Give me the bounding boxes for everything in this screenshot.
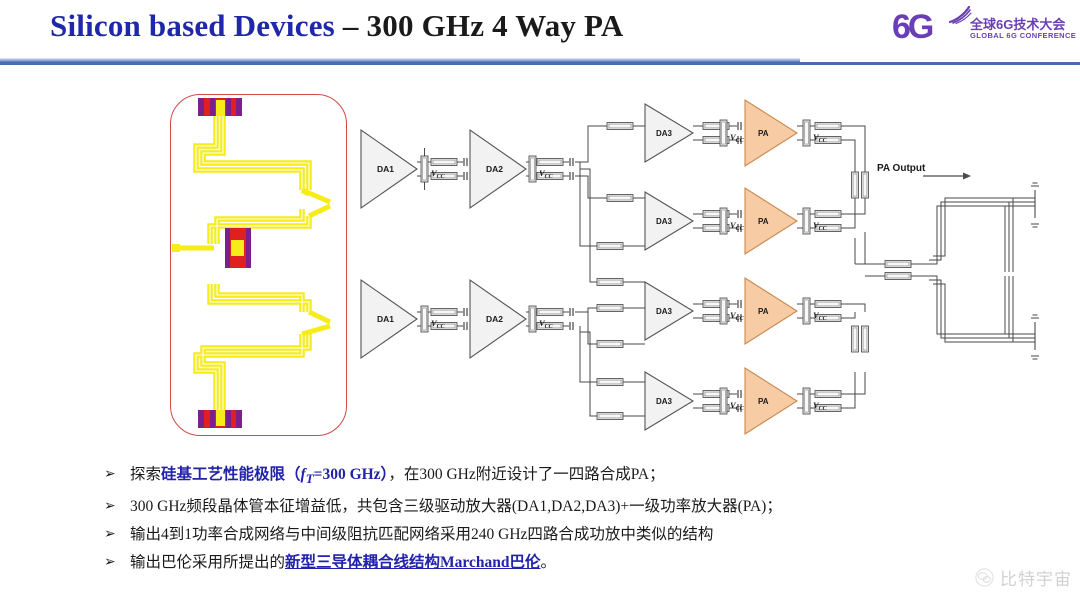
conference-logo: 6G 全球6G技术大会 GLOBAL 6G CONFERENCE [892,6,1062,54]
svg-text:VCC: VCC [730,400,745,412]
page-title-secondary: 300 GHz 4 Way PA [367,8,624,43]
watermark: 比特宇宙 [975,565,1072,590]
bullet-text-part: 输出巴伦采用所提出的 [130,554,285,571]
list-item: ➢探索硅基工艺性能极限（fT=300 GHz），在300 GHz附近设计了一四路… [104,462,1004,492]
page-title-dash: – [335,8,367,43]
bullet-text-part: ，在300 GHz附近设计了一四路合成PA； [388,466,664,483]
bullet-text-part: （ [285,466,301,483]
bullet-arrow-icon: ➢ [104,494,116,520]
list-item: ➢输出4到1功率合成网络与中间级阻抗匹配网络采用240 GHz四路合成功放中类似… [104,522,1004,548]
bullet-text-part: 。 [541,554,557,571]
bullet-text-highlight: 新型三导体耦合线结构Marchand巴伦 [285,554,540,571]
svg-text:VCC: VCC [730,220,745,232]
svg-text:DA3: DA3 [656,307,673,316]
svg-text:DA2: DA2 [486,314,503,324]
svg-text:PA: PA [758,397,769,406]
logo-english-text: GLOBAL 6G CONFERENCE [970,31,1076,40]
watermark-text: 比特宇宙 [1000,565,1072,590]
svg-text:DA3: DA3 [656,129,673,138]
svg-text:PA: PA [758,129,769,138]
pa-output-label: PA Output [877,163,925,174]
input-balun-layout [170,94,347,436]
balun-traces [170,94,345,434]
bullet-list: ➢探索硅基工艺性能极限（fT=300 GHz），在300 GHz附近设计了一四路… [104,462,1004,578]
bullet-text-part: =300 GHz） [314,466,389,483]
slide-header: Silicon based Devices – 300 GHz 4 Way PA… [0,0,1080,70]
bullet-text-part: 探索 [130,466,161,483]
bullet-text-part: T [306,471,314,486]
page-title-primary: Silicon based Devices [50,8,335,43]
bullet-text-part: 300 GHz频段晶体管本征增益低，共包含三级驱动放大器(DA1,DA2,DA3… [130,498,782,515]
svg-text:DA2: DA2 [486,164,503,174]
bullet-text-part: 硅基工艺性能极限 [161,466,285,483]
svg-text:PA: PA [758,307,769,316]
bullet-text-part: 输出4到1功率合成网络与中间级阻抗匹配网络采用240 GHz四路合成功放中类似的… [130,526,713,543]
amplifier-schematic: DA1 DA2 [345,86,1080,446]
svg-text:PA: PA [758,217,769,226]
svg-text:DA1: DA1 [377,164,394,174]
bullet-arrow-icon: ➢ [104,550,116,576]
logo-6g-mark: 6G [892,8,931,47]
svg-text:DA1: DA1 [377,314,394,324]
svg-text:DA3: DA3 [656,397,673,406]
bullet-arrow-icon: ➢ [104,462,116,488]
block-diagram-figure: DA1 DA2 [0,78,1080,453]
list-item: ➢300 GHz频段晶体管本征增益低，共包含三级驱动放大器(DA1,DA2,DA… [104,494,1004,520]
bullet-arrow-icon: ➢ [104,522,116,548]
svg-text:DA3: DA3 [656,217,673,226]
header-rule [0,62,1080,65]
svg-text:VCC: VCC [730,310,745,322]
wechat-icon [975,568,994,587]
page-title: Silicon based Devices – 300 GHz 4 Way PA [50,8,623,44]
svg-text:VCC: VCC [730,132,745,144]
list-item: ➢输出巴伦采用所提出的新型三导体耦合线结构Marchand巴伦。 [104,550,1004,576]
